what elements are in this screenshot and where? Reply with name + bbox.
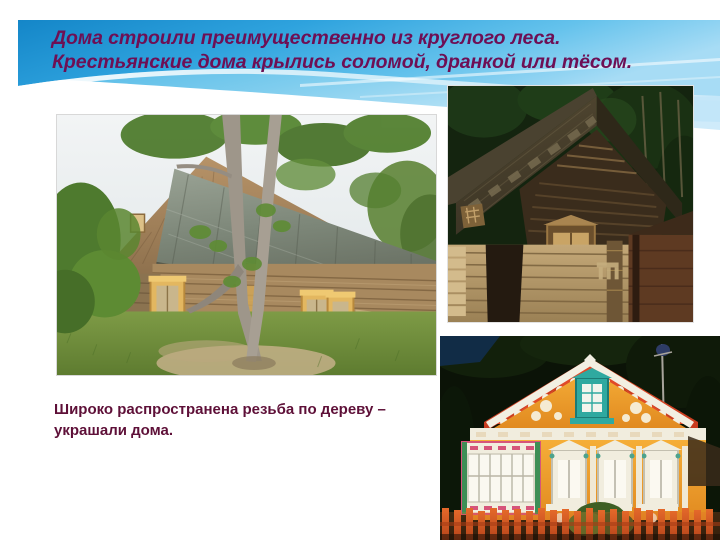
slide-caption: Широко распространена резьба по дереву –… bbox=[54, 399, 414, 441]
photo-carved-ornate-house bbox=[440, 336, 720, 540]
photo-log-house-with-trees bbox=[56, 114, 437, 376]
photo-dark-log-house-gable bbox=[447, 85, 694, 323]
slide-root: Дома строили преимущественно из круглого… bbox=[0, 0, 720, 540]
slide-title: Дома строили преимущественно из круглого… bbox=[52, 26, 692, 74]
